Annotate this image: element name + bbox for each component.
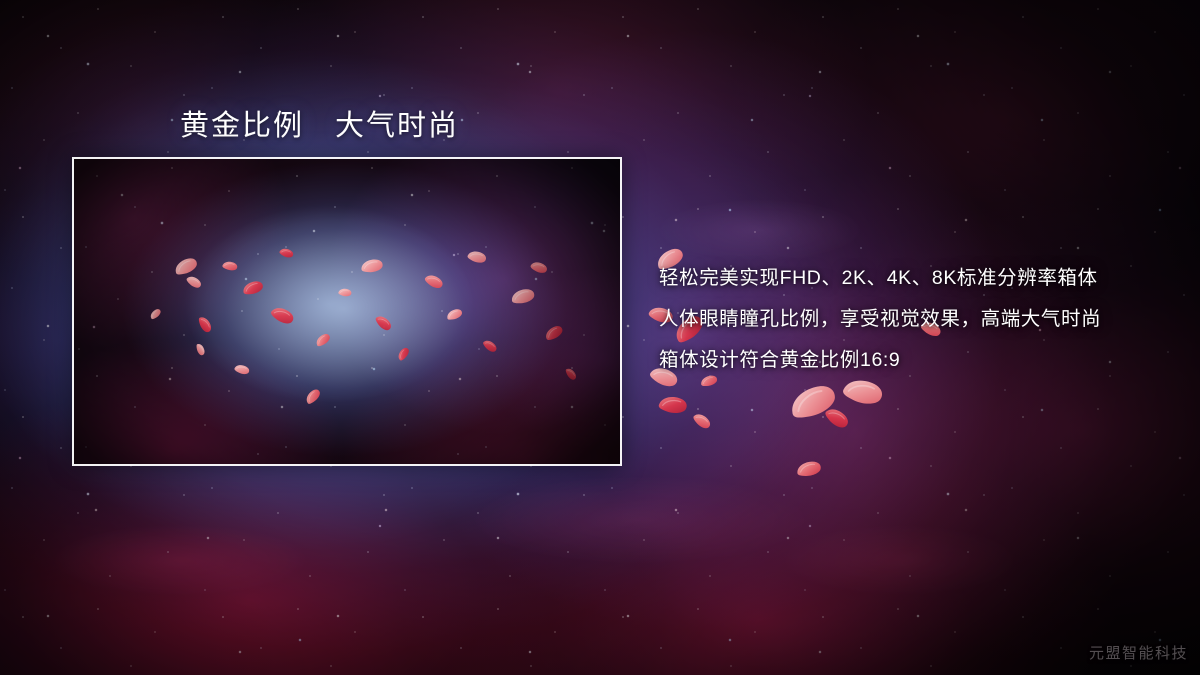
display-frame-scene bbox=[74, 159, 620, 464]
slide-canvas: 黄金比例 大气时尚 轻松完美实现FHD、2K、4K、8K标准分辨率箱体 人体眼睛… bbox=[0, 0, 1200, 675]
page-title: 黄金比例 大气时尚 bbox=[180, 102, 459, 144]
display-frame-16-9 bbox=[72, 157, 622, 466]
flower-petal bbox=[783, 376, 843, 428]
body-line: 人体眼睛瞳孔比例，享受视觉效果，高端大气时尚 bbox=[659, 299, 1159, 340]
body-line: 轻松完美实现FHD、2K、4K、8K标准分辨率箱体 bbox=[659, 258, 1159, 299]
flower-petal bbox=[686, 405, 718, 438]
flower-petal bbox=[656, 390, 689, 420]
body-copy-block: 轻松完美实现FHD、2K、4K、8K标准分辨率箱体 人体眼睛瞳孔比例，享受视觉效… bbox=[659, 258, 1159, 381]
body-line: 箱体设计符合黄金比例16:9 bbox=[659, 340, 1159, 381]
flower-petal bbox=[795, 458, 824, 480]
panel-vignette bbox=[74, 159, 620, 464]
flower-petal bbox=[817, 400, 857, 436]
watermark: 元盟智能科技 bbox=[1089, 642, 1188, 663]
